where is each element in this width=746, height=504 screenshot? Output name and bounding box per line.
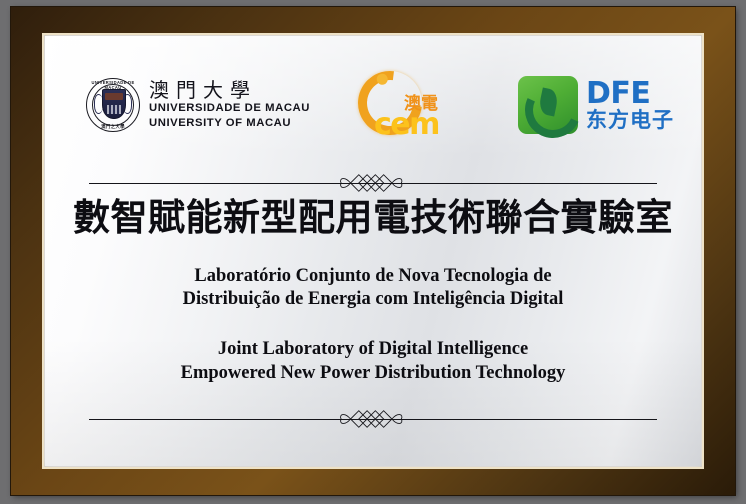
divider-bottom: [89, 406, 657, 432]
title-portuguese-line-2: Distribuição de Energia com Inteligência…: [45, 288, 701, 312]
title-english: Joint Laboratory of Digital Intelligence…: [45, 338, 701, 385]
um-portuguese-name: UNIVERSIDADE DE MACAU: [149, 102, 310, 116]
plaque-title-block: 數智賦能新型配用電技術聯合實驗室 Laboratório Conjunto de…: [45, 198, 701, 385]
dfe-square-mark-icon: [518, 76, 578, 134]
university-of-macau-logo: UNIVERSIDADE DE MACAU 澳門之大學 澳門大學 UNIVERS…: [86, 78, 310, 132]
title-chinese: 數智賦能新型配用電技術聯合實驗室: [45, 198, 701, 239]
title-portuguese: Laboratório Conjunto de Nova Tecnologia …: [45, 265, 701, 312]
commemorative-plaque: UNIVERSIDADE DE MACAU 澳門之大學 澳門大學 UNIVERS…: [45, 36, 701, 466]
divider-top-ornament-icon: [337, 170, 409, 196]
title-portuguese-line-1: Laboratório Conjunto de Nova Tecnologia …: [45, 265, 701, 289]
wooden-picture-frame: UNIVERSIDADE DE MACAU 澳門之大學 澳門大學 UNIVERS…: [11, 7, 735, 495]
divider-top: [89, 170, 657, 196]
um-seal-icon: UNIVERSIDADE DE MACAU 澳門之大學: [86, 78, 140, 132]
title-english-line-1: Joint Laboratory of Digital Intelligence: [45, 338, 701, 362]
um-english-name: UNIVERSITY OF MACAU: [149, 117, 310, 131]
dfe-latin-name: DFE: [586, 79, 674, 110]
cem-wordmark: cem: [374, 110, 439, 140]
um-wordmark: 澳門大學 UNIVERSIDADE DE MACAU UNIVERSITY OF…: [149, 80, 310, 131]
um-seal-crest-shield: [102, 89, 126, 119]
screenshot-stage: UNIVERSIDADE DE MACAU 澳門之大學 澳門大學 UNIVERS…: [0, 0, 746, 504]
um-seal-chinese-text: 澳門之大學: [86, 124, 140, 130]
dfe-chinese-name: 东方电子: [586, 109, 674, 131]
title-english-line-2: Empowered New Power Distribution Technol…: [45, 362, 701, 386]
dfe-wordmark: DFE 东方电子: [586, 79, 674, 132]
dfe-logo: DFE 东方电子: [518, 72, 676, 138]
um-chinese-name: 澳門大學: [149, 80, 310, 101]
cem-logo: 澳電 cem: [354, 69, 462, 141]
partner-logo-row: UNIVERSIDADE DE MACAU 澳門之大學 澳門大學 UNIVERS…: [45, 62, 701, 148]
divider-bottom-ornament-icon: [337, 406, 409, 432]
um-seal-latin-text: UNIVERSIDADE DE MACAU: [86, 80, 140, 90]
